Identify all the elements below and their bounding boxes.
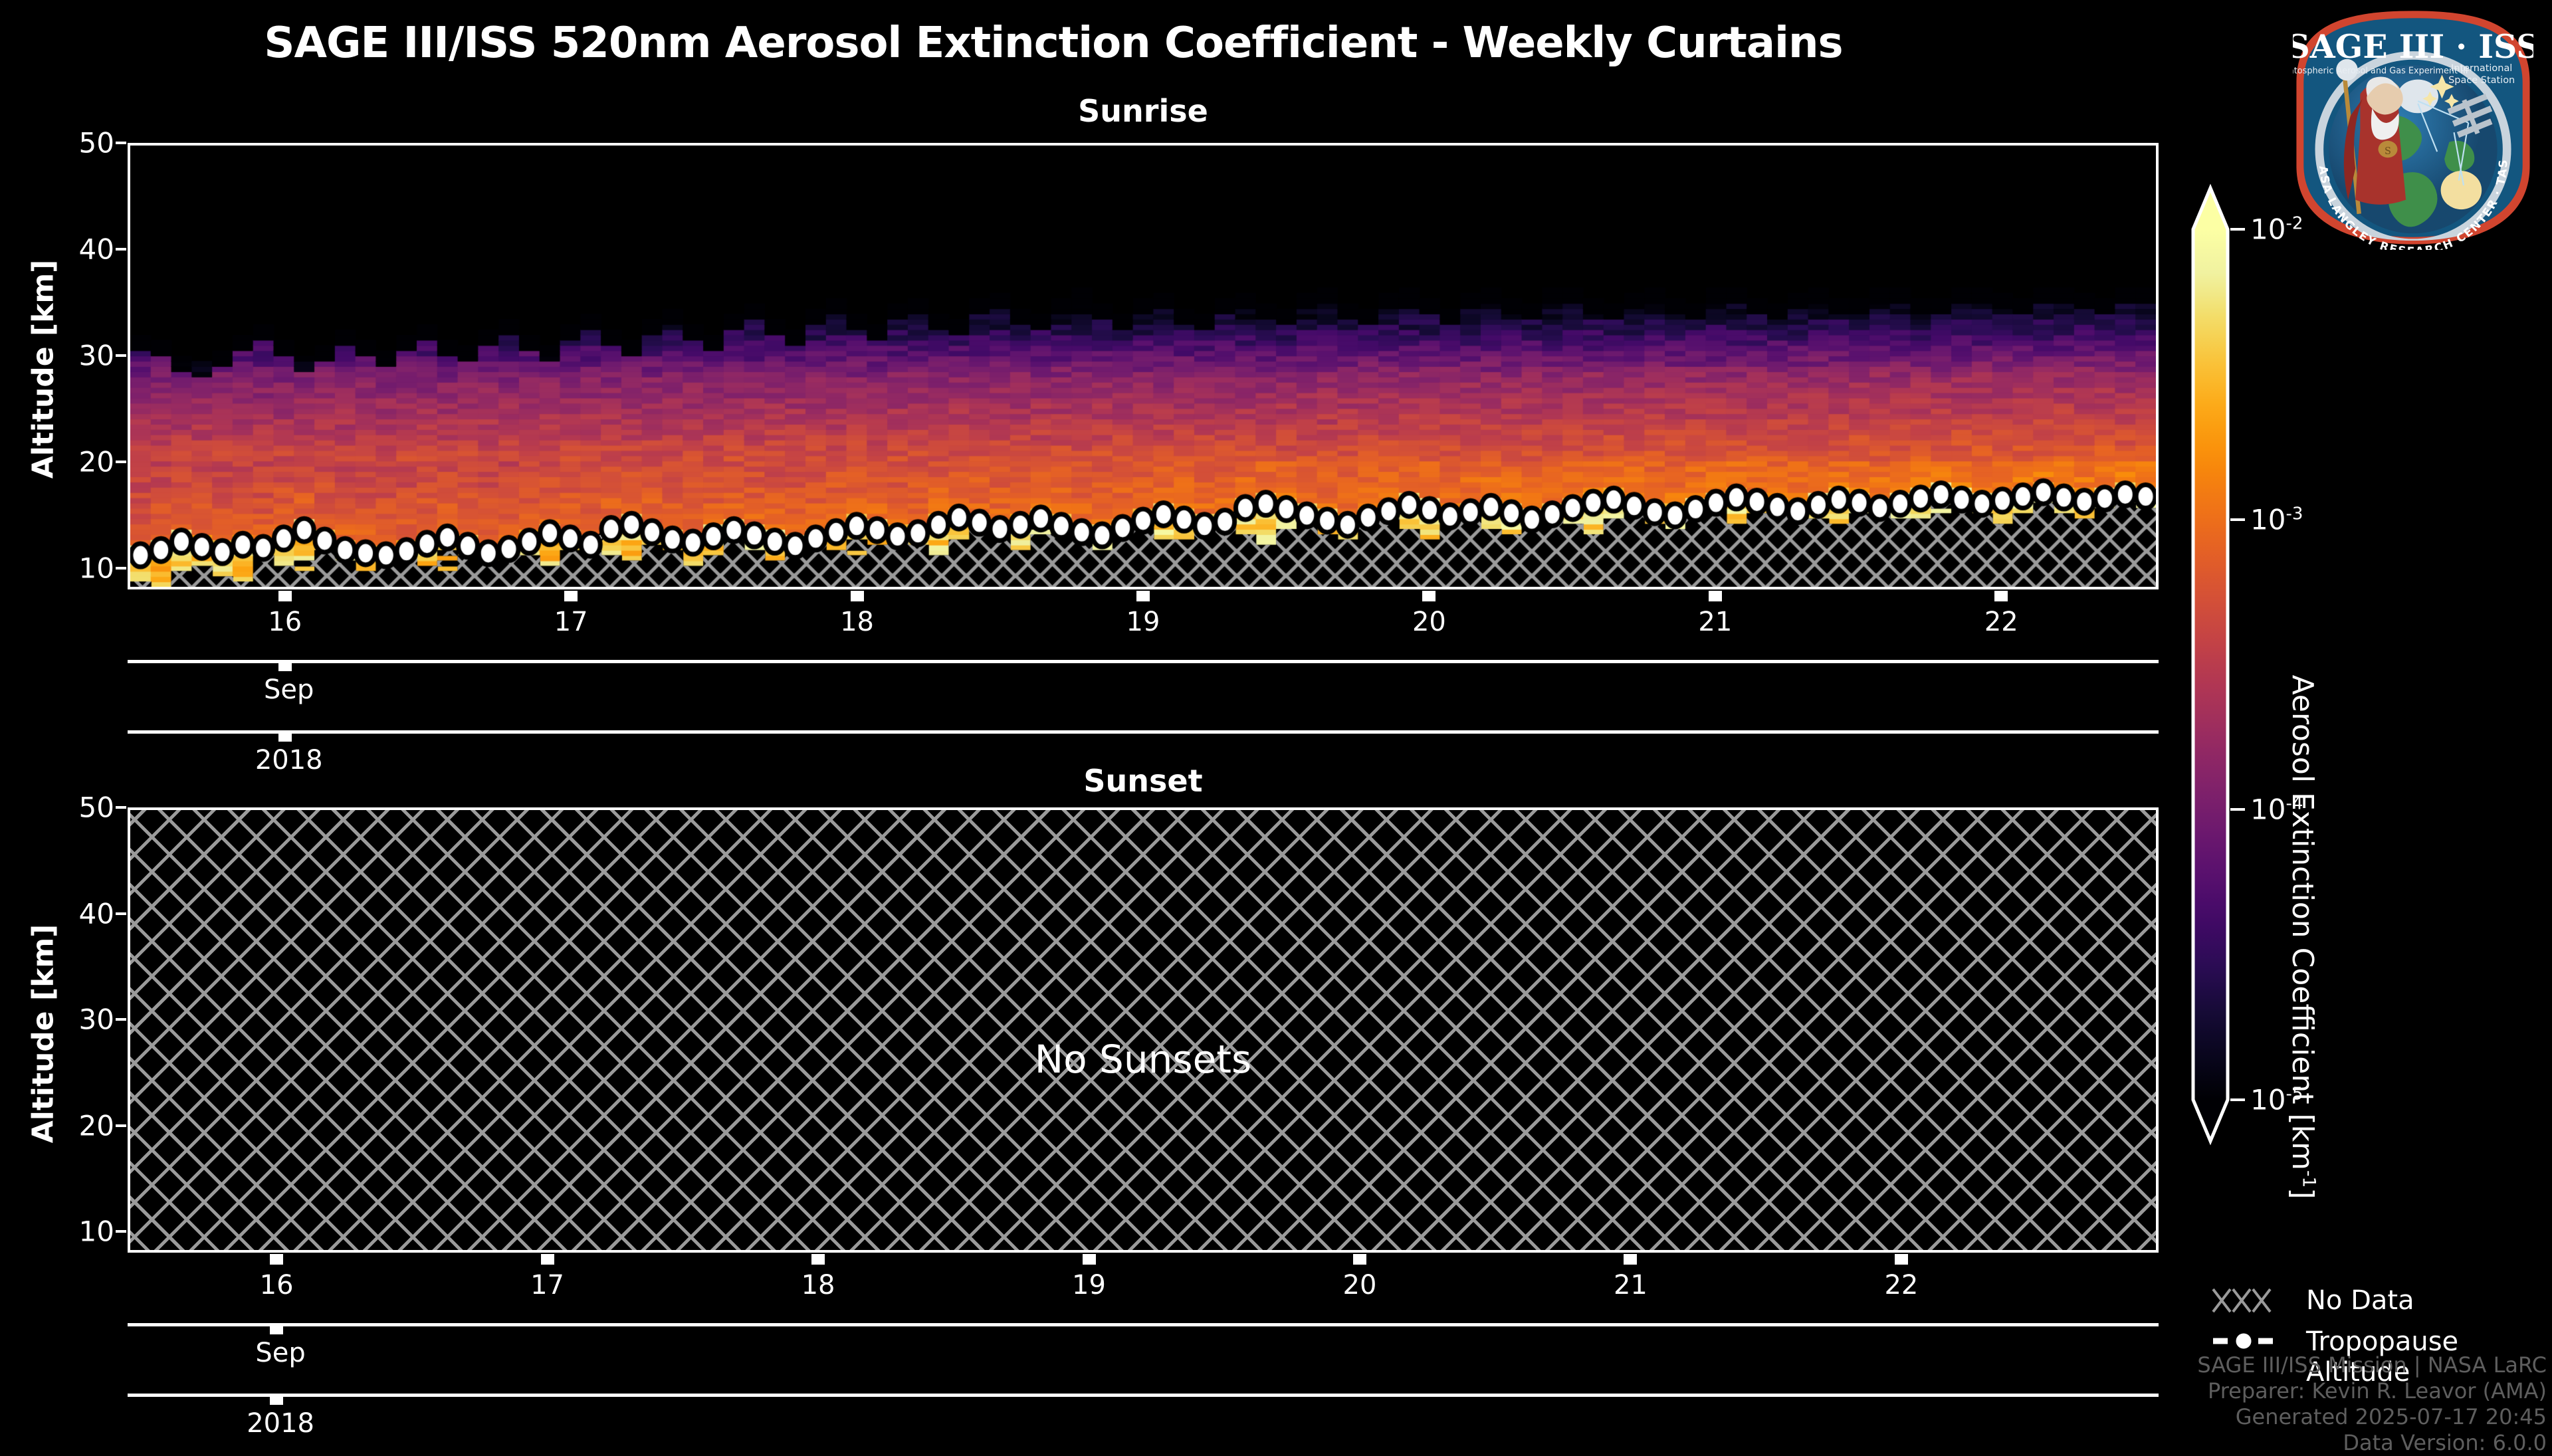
sunrise-y-tick-mark-2 [116, 354, 126, 357]
sunset-y-tick-mark-2 [116, 1018, 126, 1021]
colorbar-title-exponent: -1 [2299, 1170, 2319, 1188]
sunrise-x-tick-label-6: 22 [1984, 607, 2018, 637]
sunset-y-tick-label-0: 10 [41, 1215, 114, 1248]
sunrise-y-tick-label-4: 50 [41, 127, 114, 159]
sunrise-x-tick-mark-5 [1709, 591, 1722, 601]
sunset-panel-title: Sunset [128, 763, 2159, 799]
sunset-x-tick-label-2: 18 [801, 1270, 835, 1300]
sunrise-x-tick-label-4: 20 [1412, 607, 1446, 637]
sunset-y-tick-mark-3 [116, 912, 126, 915]
sunset-x-tick-label-1: 17 [530, 1270, 564, 1300]
sunrise-panel-title: Sunrise [128, 93, 2159, 129]
sunrise-year-label: 2018 [255, 745, 323, 776]
colorbar-title-tail: ] [2286, 1188, 2319, 1199]
sunrise-year-tick [278, 732, 292, 742]
sunrise-y-tick-label-1: 20 [41, 446, 114, 478]
logo-subtitle-right-2: Space Station [2448, 75, 2515, 86]
no-sunsets-message: No Sunsets [128, 1037, 2159, 1082]
sunset-y-tick-label-4: 50 [41, 791, 114, 824]
sunrise-x-tick-mark-3 [1136, 591, 1150, 601]
footer-line-preparer: Preparer: Kevin R. Leavor (AMA) [2042, 1378, 2547, 1404]
footer-credits: SAGE III/ISS Mission | NASA LaRC Prepare… [2042, 1352, 2547, 1456]
colorbar-extend-arrows [2184, 166, 2264, 1203]
sunset-month-spine [128, 1323, 2159, 1326]
sunset-x-tick-mark-5 [1624, 1254, 1637, 1265]
sunset-y-tick-label-3: 40 [41, 897, 114, 930]
sunset-x-tick-label-3: 19 [1072, 1270, 1106, 1300]
sunrise-x-tick-label-5: 21 [1698, 607, 1732, 637]
legend-item-no-data: No Data [2206, 1283, 2552, 1324]
sunrise-x-tick-mark-1 [564, 591, 578, 601]
sunset-year-spine [128, 1394, 2159, 1397]
sunset-x-tick-mark-3 [1083, 1254, 1096, 1265]
sunset-x-tick-label-0: 16 [260, 1270, 294, 1300]
sunrise-extinction-curtain [130, 146, 2156, 587]
sage-iii-iss-mission-patch-logo: S SAGE III · ISS Stratospheric Aerosol a… [2293, 5, 2533, 250]
sunrise-x-tick-mark-0 [278, 591, 292, 601]
sunset-x-tick-mark-1 [541, 1254, 554, 1265]
no-data-hatch-fill [130, 810, 2156, 1250]
sunset-x-tick-label-5: 21 [1614, 1270, 1648, 1300]
colorbar-title: Aerosol Extinction Coefficient [km-1] [2286, 671, 2319, 1203]
sunrise-y-tick-mark-1 [116, 461, 126, 463]
sunrise-y-tick-mark-3 [116, 248, 126, 251]
sunrise-y-tick-mark-0 [116, 567, 126, 570]
sunrise-x-tick-mark-2 [851, 591, 864, 601]
logo-title: SAGE III · ISS [2293, 27, 2533, 66]
sunset-month-label: Sep [255, 1338, 305, 1368]
sunrise-month-spine [128, 660, 2159, 663]
sunset-y-tick-label-2: 30 [41, 1003, 114, 1036]
sunset-y-tick-mark-0 [116, 1230, 126, 1233]
legend-label-no-data: No Data [2306, 1285, 2414, 1316]
sunset-x-tick-mark-0 [270, 1254, 283, 1265]
footer-line-generated: Generated 2025-07-17 20:45 [2042, 1404, 2547, 1430]
sunrise-y-tick-label-2: 30 [41, 340, 114, 372]
page-title: SAGE III/ISS 520nm Aerosol Extinction Co… [0, 19, 2107, 68]
sunrise-y-tick-label-3: 40 [41, 233, 114, 266]
sunset-x-tick-label-4: 20 [1343, 1270, 1377, 1300]
sunset-y-tick-label-1: 20 [41, 1109, 114, 1142]
footer-line-mission: SAGE III/ISS Mission | NASA LaRC [2042, 1352, 2547, 1378]
sunset-heatmap-plot[interactable] [128, 807, 2159, 1253]
sunrise-x-tick-label-3: 19 [1126, 607, 1160, 637]
sunset-year-tick [270, 1396, 283, 1405]
sunrise-x-tick-mark-4 [1422, 591, 1435, 601]
sunrise-x-tick-mark-6 [1994, 591, 2008, 601]
sunset-y-tick-mark-1 [116, 1124, 126, 1127]
no-data-hatch-icon [2210, 1283, 2297, 1317]
colorbar-title-text: Aerosol Extinction Coefficient [km [2286, 675, 2319, 1170]
sunrise-month-tick [278, 662, 292, 671]
logo-subtitle-right-1: International [2451, 63, 2512, 74]
sunrise-x-tick-label-0: 16 [268, 607, 302, 637]
logo-subtitle-left: Stratospheric Aerosol and Gas Experiment… [2293, 66, 2468, 76]
sunset-x-tick-mark-4 [1353, 1254, 1366, 1265]
sunset-year-label: 2018 [247, 1408, 314, 1439]
sunrise-year-spine [128, 730, 2159, 734]
sunset-y-tick-mark-4 [116, 806, 126, 809]
sunrise-x-tick-label-1: 17 [554, 607, 588, 637]
sunrise-month-label: Sep [264, 675, 314, 705]
sunset-month-tick [270, 1325, 283, 1334]
sunrise-y-tick-mark-4 [116, 142, 126, 144]
sunset-x-tick-mark-2 [811, 1254, 825, 1265]
sunset-x-tick-mark-6 [1895, 1254, 1908, 1265]
sunrise-y-tick-label-0: 10 [41, 552, 114, 585]
sunrise-heatmap-plot[interactable] [128, 143, 2159, 589]
sunset-x-tick-label-6: 22 [1884, 1270, 1918, 1300]
footer-line-version: Data Version: 6.0.0 [2042, 1430, 2547, 1456]
sunrise-x-tick-label-2: 18 [840, 607, 874, 637]
svg-text:S: S [2385, 146, 2391, 157]
